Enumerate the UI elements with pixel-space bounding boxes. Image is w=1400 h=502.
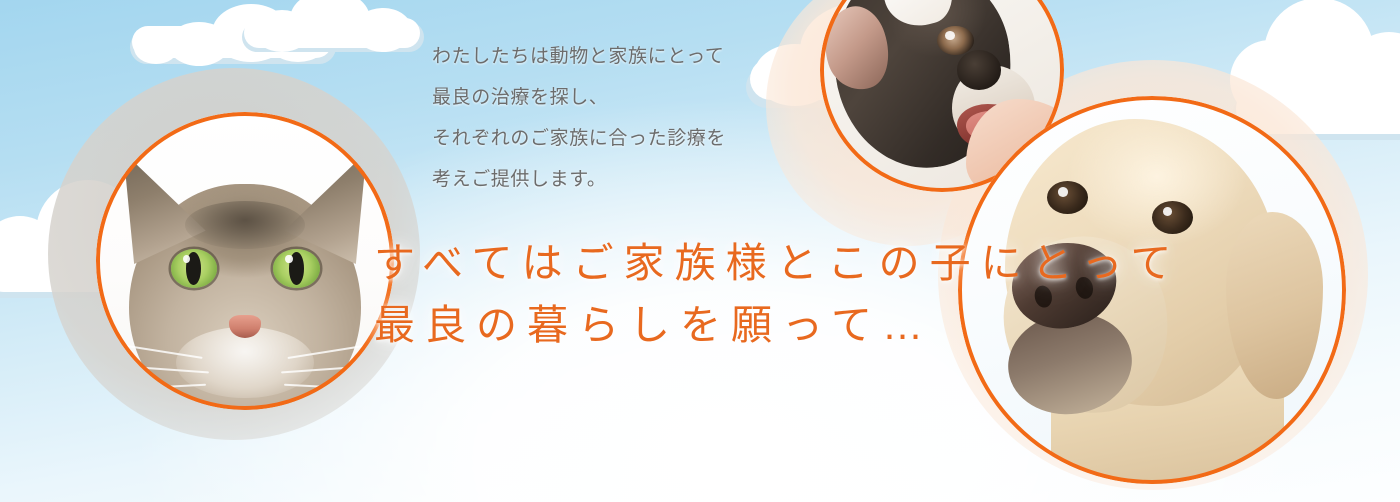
headline-line-2: 最良の暮らしを願って…: [374, 294, 1181, 356]
headline-line-1: すべてはご家族様とこの子にとって: [374, 232, 1181, 294]
bulldog-snout: [957, 50, 1001, 89]
cat-photo-art: [96, 112, 394, 410]
cat-photo[interactable]: [96, 112, 394, 410]
cloud-top-center: [238, 0, 428, 54]
hero-banner: わたしたちは動物と家族にとって 最良の治療を探し、 それぞれのご家族に合った診療…: [0, 0, 1400, 502]
headline: すべてはご家族様とこの子にとって 最良の暮らしを願って…: [374, 232, 1181, 356]
labrador-eye-right: [1152, 201, 1193, 234]
cat-eye-left: [171, 249, 217, 288]
cat-forehead-marking: [185, 201, 304, 249]
bulldog-eye: [937, 26, 974, 55]
intro-paragraph: わたしたちは動物と家族にとって 最良の治療を探し、 それぞれのご家族に合った診療…: [432, 36, 726, 200]
cat-eye-right: [273, 249, 319, 288]
cloud-top-left: [128, 4, 338, 66]
